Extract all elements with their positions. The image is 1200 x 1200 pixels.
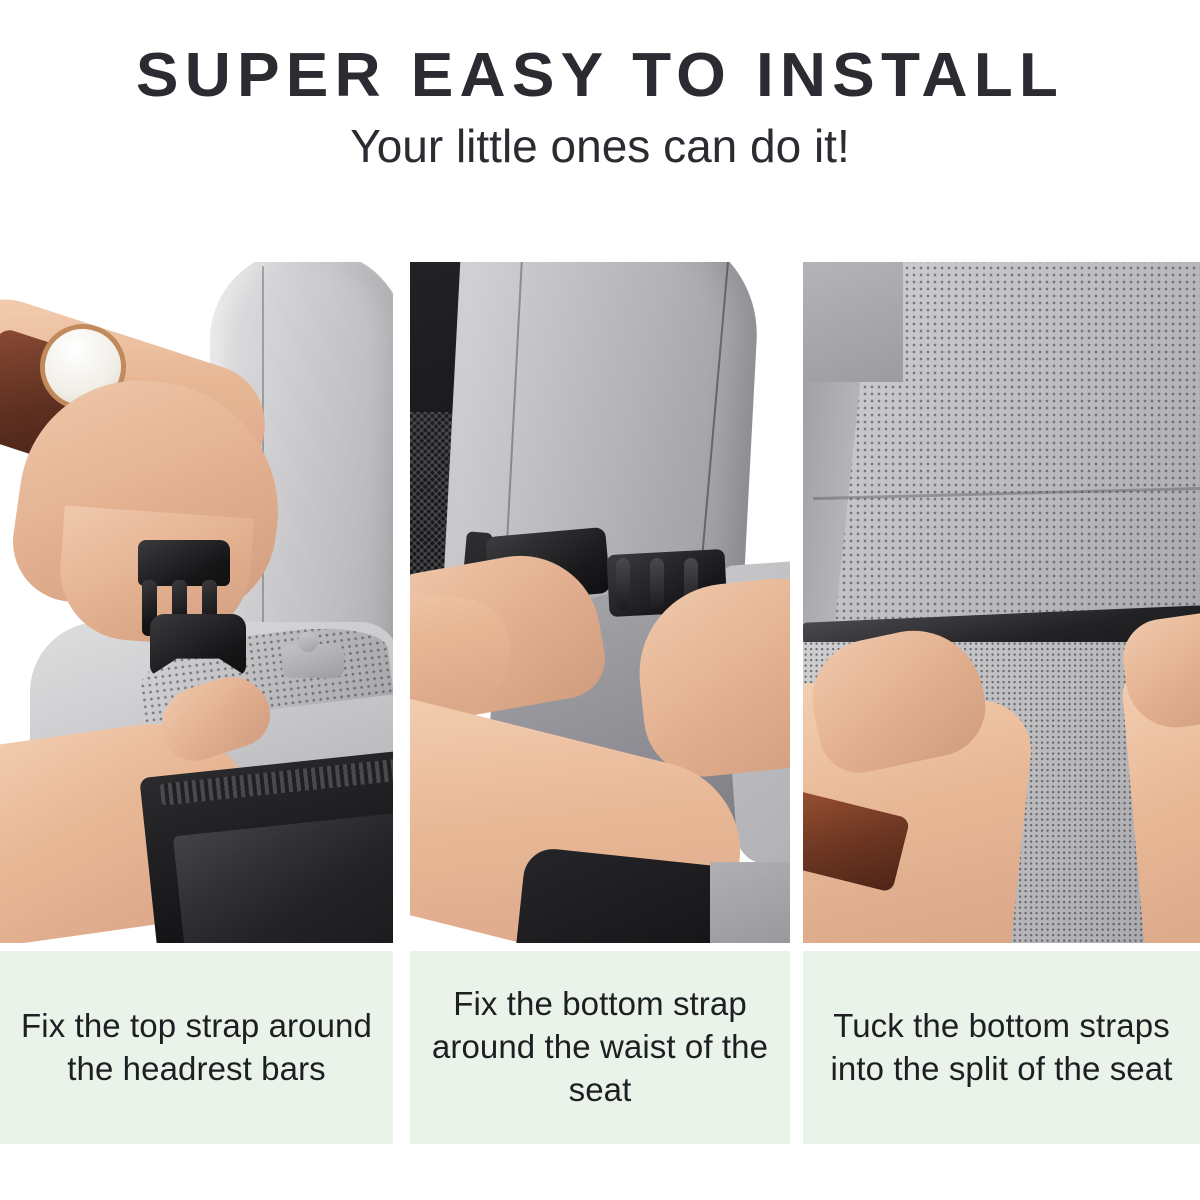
step-caption-2: Fix the bottom strap around the waist of…	[410, 951, 790, 1144]
page-subtitle: Your little ones can do it!	[0, 107, 1200, 173]
steps-grid: Fix the top strap around the headrest ba…	[0, 262, 1200, 1144]
step-photo-2	[410, 262, 790, 943]
header: SUPER EASY TO INSTALL Your little ones c…	[0, 0, 1200, 240]
step-caption-text-2: Fix the bottom strap around the waist of…	[424, 983, 776, 1112]
backrest-upper-left	[803, 262, 903, 382]
step-caption-3: Tuck the bottom straps into the split of…	[803, 951, 1200, 1144]
scene-waist-buckle	[410, 262, 790, 943]
product-instruction-graphic: SUPER EASY TO INSTALL Your little ones c…	[0, 0, 1200, 1200]
step-caption-text-1: Fix the top strap around the headrest ba…	[14, 1005, 379, 1091]
step-photo-3	[803, 262, 1200, 943]
step-caption-text-3: Tuck the bottom straps into the split of…	[817, 1005, 1186, 1091]
page-title: SUPER EASY TO INSTALL	[0, 0, 1200, 107]
seat-side-panel	[710, 862, 790, 943]
step-caption-1: Fix the top strap around the headrest ba…	[0, 951, 393, 1144]
scene-tuck-straps	[803, 262, 1200, 943]
step-photo-1	[0, 262, 393, 943]
scene-headrest-strap	[0, 262, 393, 943]
headrest-post	[282, 644, 344, 678]
step-panel-1: Fix the top strap around the headrest ba…	[0, 262, 393, 1144]
step-panel-3: Tuck the bottom straps into the split of…	[803, 262, 1200, 1144]
step-panel-2: Fix the bottom strap around the waist of…	[410, 262, 790, 1144]
